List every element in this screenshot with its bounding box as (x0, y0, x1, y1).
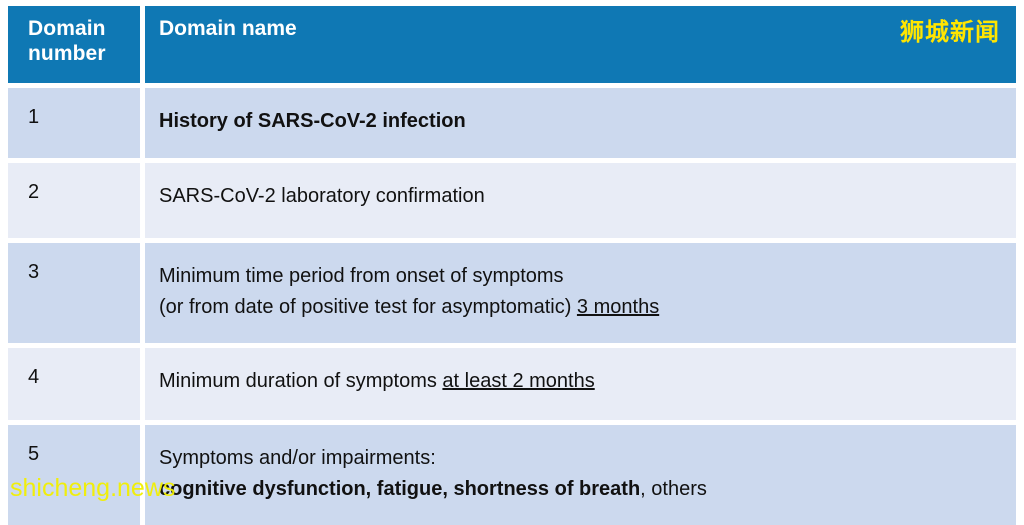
domain-name-text: SARS-CoV-2 laboratory confirmation (159, 185, 485, 207)
domain-name-line1: Minimum time period from onset of sympto… (159, 261, 1004, 292)
domain-table: Domain number Domain name 狮城新闻 1 History… (8, 6, 1016, 504)
table-row: 3 Minimum time period from onset of symp… (8, 243, 1016, 343)
domain-name-line1: Symptoms and/or impairments: (159, 443, 1004, 474)
watermark-chinese: 狮城新闻 (900, 18, 1000, 46)
column-header-domain-number-line2: number (28, 41, 140, 66)
table-row: 4 Minimum duration of symptoms at least … (8, 348, 1016, 420)
cell-domain-number: 4 (8, 348, 140, 420)
domain-name-symptoms-emphasis: cognitive dysfunction, fatigue, shortnes… (159, 478, 640, 500)
table-row: 1 History of SARS-CoV-2 infection (8, 88, 1016, 158)
column-header-domain-number: Domain number (8, 6, 140, 83)
cell-domain-name: History of SARS-CoV-2 infection (145, 88, 1016, 158)
cell-domain-name: Minimum duration of symptoms at least 2 … (145, 348, 1016, 420)
table-header-row: Domain number Domain name 狮城新闻 (8, 6, 1016, 83)
cell-domain-name: SARS-CoV-2 laboratory confirmation (145, 163, 1016, 238)
domain-name-text: History of SARS-CoV-2 infection (159, 110, 466, 132)
domain-name-duration-emphasis: 3 months (577, 296, 659, 318)
domain-name-prefix: Minimum duration of symptoms (159, 370, 442, 392)
cell-domain-name: Minimum time period from onset of sympto… (145, 243, 1016, 343)
column-header-domain-name-label: Domain name (159, 17, 297, 40)
column-header-domain-name: Domain name 狮城新闻 (145, 6, 1016, 83)
domain-name-line2: (or from date of positive test for asymp… (159, 292, 1004, 323)
domain-name-line2: cognitive dysfunction, fatigue, shortnes… (159, 474, 1004, 505)
cell-domain-name: Symptoms and/or impairments: cognitive d… (145, 425, 1016, 525)
cell-domain-number: 2 (8, 163, 140, 238)
domain-name-line2-prefix: (or from date of positive test for asymp… (159, 296, 577, 318)
table-row: 2 SARS-CoV-2 laboratory confirmation (8, 163, 1016, 238)
cell-domain-number: 3 (8, 243, 140, 343)
column-header-domain-number-line1: Domain (28, 16, 140, 41)
domain-name-duration-emphasis: at least 2 months (442, 370, 594, 392)
domain-name-symptoms-suffix: , others (640, 478, 707, 500)
slide-canvas: Domain number Domain name 狮城新闻 1 History… (0, 0, 1024, 504)
table-row: 5 Symptoms and/or impairments: cognitive… (8, 425, 1016, 525)
cell-domain-number: 5 (8, 425, 140, 525)
cell-domain-number: 1 (8, 88, 140, 158)
